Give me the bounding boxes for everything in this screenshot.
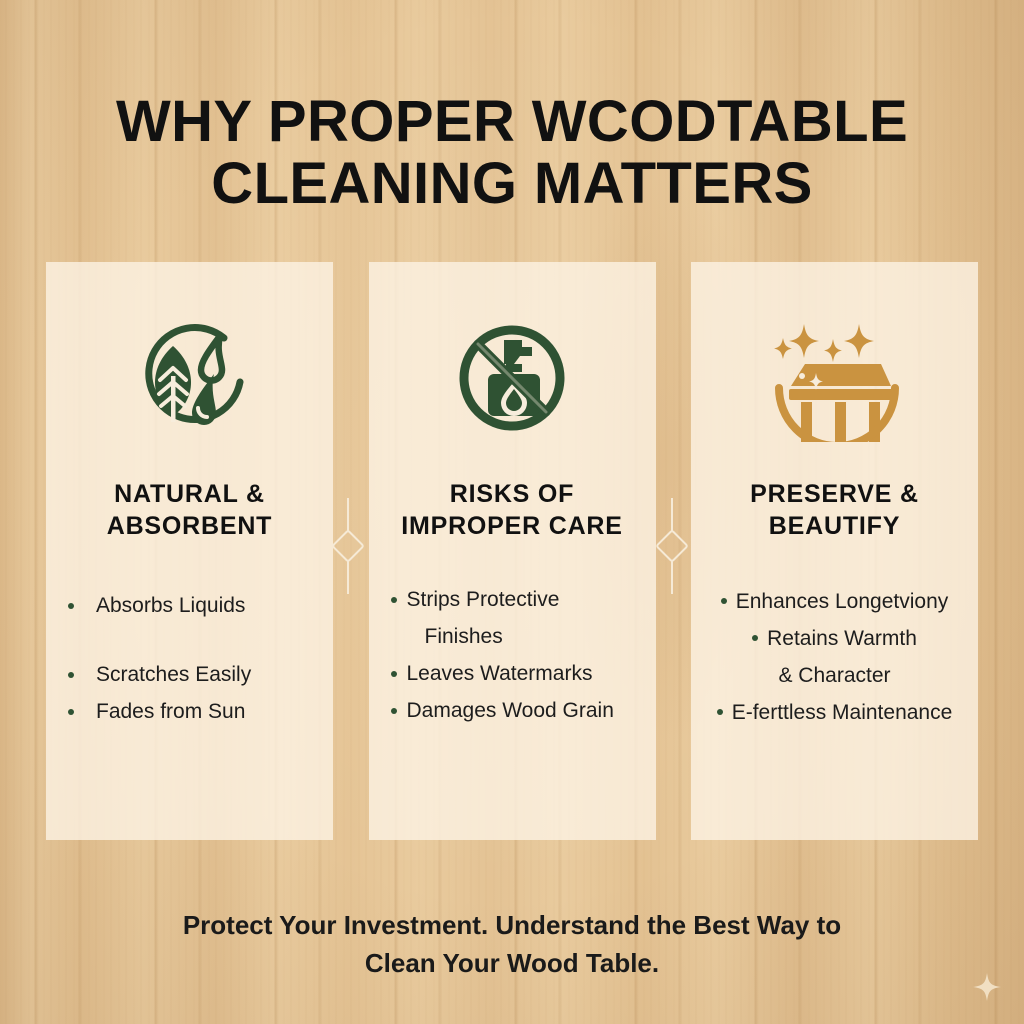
list-item: Scratches Easily [60,659,319,690]
list-item-label: Scratches Easily [96,663,251,686]
list-item: Absorbs Liquids [60,590,319,621]
list-item-label: Finishes [425,625,503,648]
card-risks-improper-care: RISKS OF IMPROPER CARE Strips Protective… [369,262,656,840]
list-item-label: Enhances Longetviony [736,590,949,613]
bullet-dot-icon [391,671,397,677]
tagline-line-1: Protect Your Investment. Understand the … [183,910,841,940]
card-bullet-list: Enhances Longetviony Retains Warmth & Ch… [705,586,964,734]
list-item: Strips Protective [383,584,642,615]
card-title-line-2: IMPROPER CARE [401,512,623,540]
bullet-dot-icon [391,597,397,603]
diamond-icon [655,529,689,563]
page-title: WHY PROPER WCODTABLE CLEANING MATTERS [62,91,962,215]
list-item-label: Absorbs Liquids [96,594,245,617]
card-preserve-beautify: PRESERVE & BEAUTIFY Enhances Longetviony… [691,262,978,840]
bullet-dot-icon [717,709,723,715]
bullet-dot-icon [721,598,727,604]
leaf-water-drop-icon [128,314,252,442]
list-item: Leaves Watermarks [383,658,642,689]
card-title-line-1: PRESERVE & [750,480,919,508]
card-bullet-list: Absorbs Liquids Scratches Easily Fades f… [60,590,319,727]
card-title-line-1: RISKS OF [450,480,574,508]
card-bullet-list: Strips Protective Finishes Leaves Waterm… [383,584,642,732]
list-item: E-ferttless Maintenance [705,697,964,728]
divider-line-bottom [347,561,349,594]
list-item: Enhances Longetviony [705,586,964,617]
divider-line-top [347,498,349,531]
card-title-line-2: ABSORBENT [107,512,273,540]
tagline-line-2: Clean Your Wood Table. [150,944,874,982]
diamond-icon [331,529,365,563]
feature-cards: NATURAL & ABSORBENT Absorbs Liquids Scra… [46,262,978,840]
card-title-line-1: NATURAL & [114,480,265,508]
bullet-dot-icon [68,709,74,715]
no-spray-bottle-icon [450,314,574,442]
list-item: Damages Wood Grain [383,695,642,726]
list-item: Fades from Sun [60,696,319,727]
list-item-label: & Character [778,664,890,687]
bullet-dot-icon [68,603,74,609]
page-title-line-1: WHY PROPER WCODTABLE [116,89,908,154]
card-title: PRESERVE & BEAUTIFY [750,478,919,542]
list-item-continuation: & Character [705,660,964,691]
list-item-label: E-ferttless Maintenance [732,701,953,724]
card-natural-absorbent: NATURAL & ABSORBENT Absorbs Liquids Scra… [46,262,333,840]
sparkling-table-icon [769,314,901,442]
infographic-poster: WHY PROPER WCODTABLE CLEANING MATTERS NA… [0,0,1024,1024]
list-item: Retains Warmth [705,623,964,654]
list-item-label: Damages Wood Grain [407,699,614,722]
sparkle-icon [972,972,1002,1002]
column-divider-1 [336,498,360,594]
list-item-label: Strips Protective [407,588,560,611]
bullet-dot-icon [391,708,397,714]
divider-line-bottom [671,561,673,594]
page-title-line-2: CLEANING MATTERS [62,153,962,215]
list-item-label: Leaves Watermarks [407,662,593,685]
tagline: Protect Your Investment. Understand the … [150,906,874,982]
list-item-label: Fades from Sun [96,700,245,723]
list-item-continuation: Finishes [383,621,642,652]
card-title: NATURAL & ABSORBENT [107,478,273,542]
list-item-label: Retains Warmth [767,627,917,650]
bullet-dot-icon [752,635,758,641]
column-divider-2 [660,498,684,594]
card-title: RISKS OF IMPROPER CARE [401,478,623,542]
card-title-line-2: BEAUTIFY [769,512,900,540]
divider-line-top [671,498,673,531]
bullet-dot-icon [68,672,74,678]
